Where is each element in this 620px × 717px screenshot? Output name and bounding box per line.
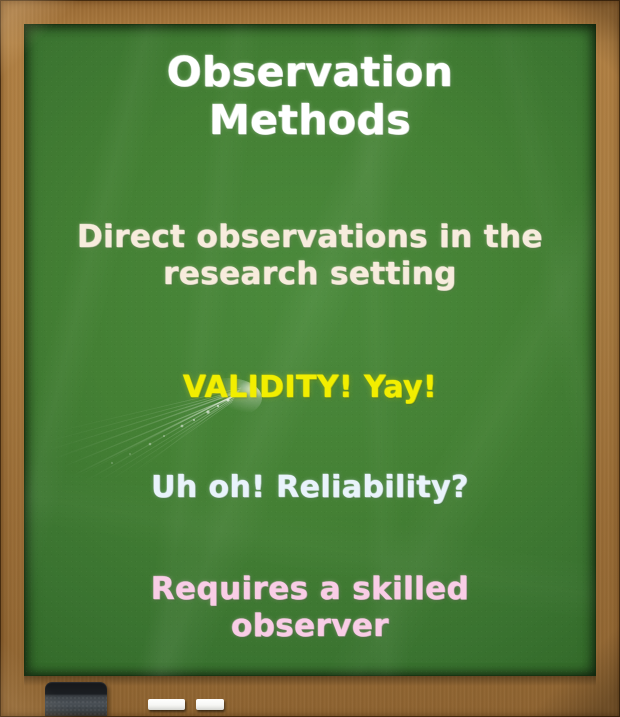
body-line-direct-observations: Direct observations in the research sett… (22, 219, 598, 292)
body-line-validity: VALIDITY! Yay! (22, 370, 598, 405)
page-title: Observation Methods (0, 48, 620, 145)
body-line-reliability: Uh oh! Reliability? (22, 470, 598, 505)
chalk-stick-icon (148, 699, 185, 710)
chalkboard-eraser-icon (45, 682, 107, 717)
chalk-stick-icon (196, 699, 224, 710)
slide-content: Observation Methods Direct observations … (0, 0, 620, 717)
eraser-felt (45, 696, 107, 717)
body-line-skilled-observer: Requires a skilled observer (22, 571, 598, 644)
chalkboard-slide: Observation Methods Direct observations … (0, 0, 620, 717)
